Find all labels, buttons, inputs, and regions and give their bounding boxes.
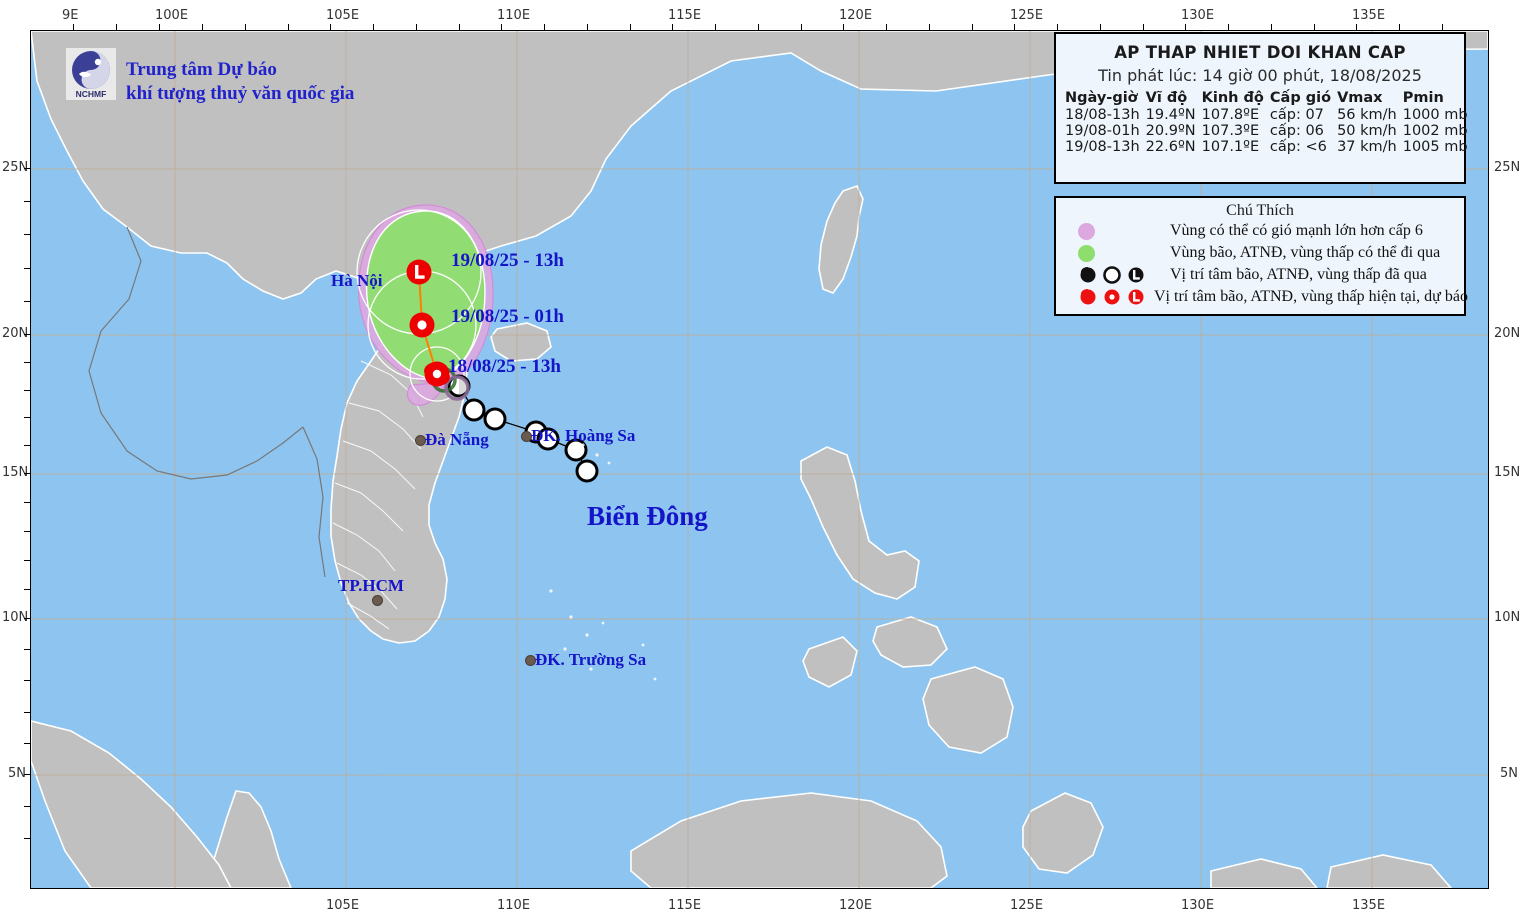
lon-label-top-0: 9E [62,8,79,23]
bulletin-cell-lon: 107.3ºE [1201,123,1269,139]
bulletin-cell-windlvl: cấp: 06 [1269,123,1336,139]
legend-item-current-forecast-positions: Vị trí tâm bão, ATNĐ, vùng thấp hiện tại… [1078,286,1464,308]
lat-label-right-3: 10N [1494,610,1519,625]
city-label-tphcm: TP.HCM [338,576,404,596]
legend-title: Chú Thích [1056,202,1464,220]
bulletin-col-vmax: Vmax [1336,90,1402,107]
lat-label-right-0: 25N [1494,160,1519,175]
bulletin-cell-windlvl: cấp: 07 [1269,107,1336,123]
bulletin-panel: AP THAP NHIET DOI KHAN CAP Tin phát lúc:… [1054,32,1466,184]
city-label-hoangsa: ĐK. Hoàng Sa [531,426,635,446]
legend-panel: Chú Thích Vùng có thể có gió mạnh lớn hơ… [1054,196,1466,316]
bulletin-cell-lat: 22.6ºN [1145,139,1201,155]
lon-label-bottom-5: 130E [1181,898,1214,913]
bulletin-cell-datetime: 18/08-13h [1064,107,1145,123]
legend-label-current-forecast-positions: Vị trí tâm bão, ATNĐ, vùng thấp hiện tại… [1154,288,1468,306]
nchmf-org-name-line1: Trung tâm Dự báo [126,58,354,82]
legend-item-past-positions: Vị trí tâm bão, ATNĐ, vùng thấp đã qua [1078,264,1464,286]
bulletin-cell-windlvl: cấp: <6 [1269,139,1336,155]
bulletin-cell-lon: 107.8ºE [1201,107,1269,123]
legend-label-past-positions: Vị trí tâm bão, ATNĐ, vùng thấp đã qua [1170,266,1427,284]
bulletin-cell-vmax: 37 km/h [1336,139,1402,155]
bulletin-title: AP THAP NHIET DOI KHAN CAP [1056,43,1464,62]
bulletin-row: 18/08-13h 19.4ºN 107.8ºE cấp: 07 56 km/h… [1064,107,1473,123]
bulletin-cell-pmin: 1002 mb [1402,123,1473,139]
past-position-marker [464,400,484,420]
bulletin-header-row: Ngày-giờ Vĩ độ Kinh độ Cấp gió Vmax Pmin [1064,90,1473,107]
bulletin-cell-pmin: 1000 mb [1402,107,1473,123]
lon-label-bottom-0: 105E [326,898,359,913]
lon-label-top-4: 115E [668,8,701,23]
past-position-marker [485,409,505,429]
bulletin-cell-datetime: 19/08-13h [1064,139,1145,155]
city-label-truongsa: ĐK. Trường Sa [535,650,646,670]
bulletin-row: 19/08-13h 22.6ºN 107.1ºE cấp: <6 37 km/h… [1064,139,1473,155]
lon-label-bottom-3: 120E [839,898,872,913]
city-label-danang: Đà Nẵng [425,430,489,450]
green-circle-icon [1078,245,1095,262]
nchmf-org-name-line2: khí tượng thuỷ văn quốc gia [126,82,354,106]
bulletin-cell-lon: 107.1ºE [1201,139,1269,155]
nchmf-logo-block: NCHMF Trung tâm Dự báo khí tượng thuỷ vă… [66,48,354,106]
legend-label-gust-zone: Vùng có thể có gió mạnh lớn hơn cấp 6 [1170,222,1423,240]
bulletin-cell-vmax: 50 km/h [1336,123,1402,139]
nchmf-org-name: Trung tâm Dự báo khí tượng thuỷ văn quốc… [126,58,354,106]
svg-text:NCHMF: NCHMF [76,89,107,99]
lon-label-bottom-6: 135E [1352,898,1385,913]
lat-label-right-1: 20N [1494,326,1519,341]
city-label-hanoi: Hà Nội [331,271,382,291]
bulletin-cell-lat: 19.4ºN [1145,107,1201,123]
bulletin-cell-datetime: 19/08-01h [1064,123,1145,139]
lon-label-top-1: 100E [155,8,188,23]
bulletin-cell-pmin: 1005 mb [1402,139,1473,155]
violet-circle-icon [1078,223,1095,240]
lat-label-right-4: 5N [1500,766,1518,781]
forecast-position-marker-L [407,260,432,285]
legend-symbol-violet-dot [1078,223,1170,240]
bulletin-col-lat: Vĩ độ [1145,90,1201,107]
legend-label-passage-zone: Vùng bão, ATNĐ, vùng thấp có thể đi qua [1170,244,1440,262]
bulletin-cell-vmax: 56 km/h [1336,107,1402,123]
bulletin-cell-lat: 20.9ºN [1145,123,1201,139]
forecast-label-12h: 19/08/25 - 01h [451,306,564,328]
lon-label-top-5: 120E [839,8,872,23]
bulletin-subtitle: Tin phát lúc: 14 giờ 00 phút, 18/08/2025 [1056,66,1464,85]
lon-label-top-6: 125E [1010,8,1043,23]
red-storm-glyphs-icon [1078,287,1154,307]
bulletin-table: Ngày-giờ Vĩ độ Kinh độ Cấp gió Vmax Pmin… [1064,90,1473,155]
sea-label-bien-dong: Biển Đông [587,501,708,532]
lon-label-bottom-2: 115E [668,898,701,913]
city-dot-tphcm [372,595,383,606]
past-position-marker [577,461,597,481]
bulletin-col-windlvl: Cấp gió [1269,90,1336,107]
bulletin-col-datetime: Ngày-giờ [1064,90,1145,107]
storm-forecast-map-page: 19/08/25 - 13h 19/08/25 - 01h 18/08/25 -… [0,0,1519,919]
forecast-label-current: 18/08/25 - 13h [448,356,561,378]
legend-item-passage-zone: Vùng bão, ATNĐ, vùng thấp có thể đi qua [1078,242,1464,264]
forecast-position-marker-O [410,313,435,338]
nchmf-logo-icon: NCHMF [66,48,116,100]
lon-label-top-2: 105E [326,8,359,23]
lat-label-right-2: 15N [1494,465,1519,480]
forecast-label-24h: 19/08/25 - 13h [451,250,564,272]
legend-item-gust-zone: Vùng có thể có gió mạnh lớn hơn cấp 6 [1078,220,1464,242]
bulletin-col-lon: Kinh độ [1201,90,1269,107]
lon-label-top-8: 135E [1352,8,1385,23]
legend-symbol-red-storms [1078,287,1154,307]
legend-symbol-green-dot [1078,245,1170,262]
lon-label-bottom-1: 110E [497,898,530,913]
legend-symbol-black-storms [1078,265,1170,285]
bulletin-col-pmin: Pmin [1402,90,1473,107]
bulletin-row: 19/08-01h 20.9ºN 107.3ºE cấp: 06 50 km/h… [1064,123,1473,139]
lon-label-top-7: 130E [1181,8,1214,23]
lon-label-bottom-4: 125E [1010,898,1043,913]
lon-label-top-3: 110E [497,8,530,23]
black-storm-glyphs-icon [1078,265,1154,285]
